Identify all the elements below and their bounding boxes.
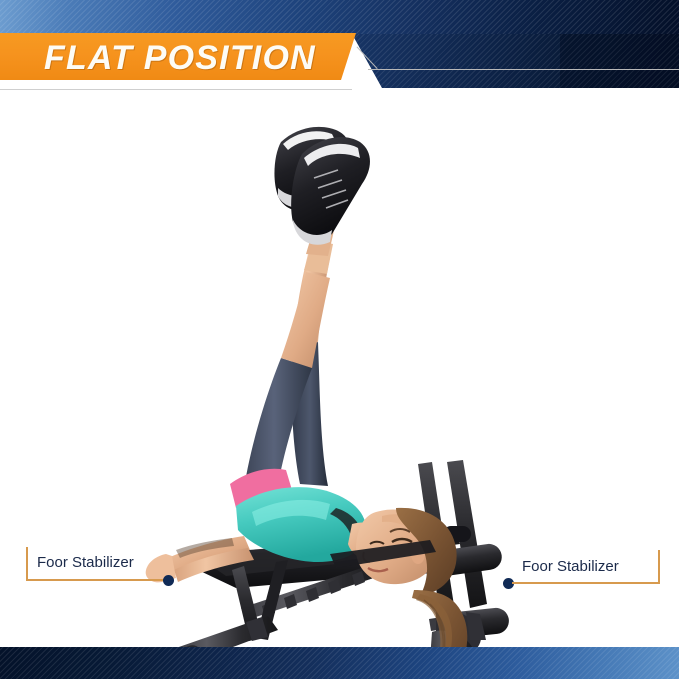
callout-left-label: Foor Stabilizer (37, 554, 134, 571)
callout-right: Foor Stabilizer (503, 558, 668, 598)
callout-left: Foor Stabilizer (26, 545, 186, 585)
bracket-horizontal-right (512, 582, 660, 584)
header-rule-right (368, 69, 679, 70)
callout-left-dot (163, 575, 174, 586)
header-rule-diagonal (348, 69, 372, 91)
header-band: FLAT POSITION (0, 0, 679, 90)
bracket-vertical-left (26, 547, 28, 581)
bracket-horizontal-left (26, 579, 168, 581)
poster-root: FLAT POSITION (0, 0, 679, 679)
footer-band (0, 647, 679, 679)
callout-right-label: Foor Stabilizer (522, 558, 619, 575)
page-title: FLAT POSITION (44, 38, 374, 78)
bracket-vertical-right (658, 550, 660, 583)
header-rule-left (0, 89, 352, 90)
header-top-strip (0, 0, 679, 34)
